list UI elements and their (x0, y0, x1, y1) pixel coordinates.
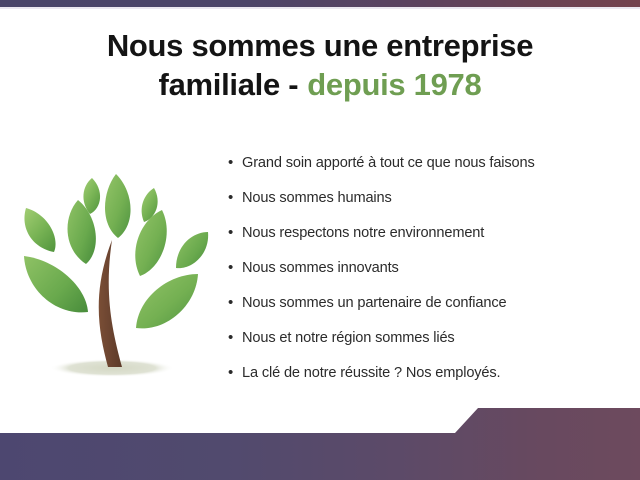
list-item-label: Nous sommes humains (242, 187, 392, 209)
tree-trunk (99, 240, 122, 367)
top-accent-bar (0, 0, 640, 7)
list-item: • Nous respectons notre environnement (228, 222, 632, 257)
tree-leaves (24, 174, 208, 328)
list-item-label: Nous respectons notre environnement (242, 222, 484, 244)
value-bullet-list: • Grand soin apporté à tout ce que nous … (228, 152, 632, 397)
list-item-label: Grand soin apporté à tout ce que nous fa… (242, 152, 535, 174)
bullet-dot-icon: • (228, 362, 242, 384)
list-item: • Nous et notre région sommes liés (228, 327, 632, 362)
bullet-dot-icon: • (228, 257, 242, 279)
list-item: • Nous sommes innovants (228, 257, 632, 292)
bullet-dot-icon: • (228, 222, 242, 244)
list-item-label: Nous sommes un partenaire de confiance (242, 292, 506, 314)
top-accent-bar-sheen (0, 7, 640, 9)
list-item: • La clé de notre réussite ? Nos employé… (228, 362, 632, 397)
title-line-1: Nous sommes une entreprise (0, 27, 640, 65)
bullet-dot-icon: • (228, 187, 242, 209)
title-line-2: familiale -depuis 1978 (0, 66, 640, 104)
footer-bar-shape (0, 400, 640, 480)
list-item: • Nous sommes humains (228, 187, 632, 222)
slide-root: Nous sommes une entreprise familiale -de… (0, 0, 640, 480)
page-title: Nous sommes une entreprise familiale -de… (0, 27, 640, 104)
bullet-dot-icon: • (228, 152, 242, 174)
list-item-label: La clé de notre réussite ? Nos employés. (242, 362, 500, 384)
list-item-label: Nous sommes innovants (242, 257, 399, 279)
title-accent-since-1978: depuis 1978 (307, 67, 481, 102)
list-item: • Nous sommes un partenaire de confiance (228, 292, 632, 327)
list-item-label: Nous et notre région sommes liés (242, 327, 455, 349)
tree-illustration (12, 152, 222, 382)
footer-bar: tabor-automobiles.fr (0, 400, 640, 480)
bullet-dot-icon: • (228, 327, 242, 349)
list-item: • Grand soin apporté à tout ce que nous … (228, 152, 632, 187)
tree-illustration-svg (12, 152, 222, 382)
bullet-dot-icon: • (228, 292, 242, 314)
title-line-2-prefix: familiale - (159, 67, 299, 102)
